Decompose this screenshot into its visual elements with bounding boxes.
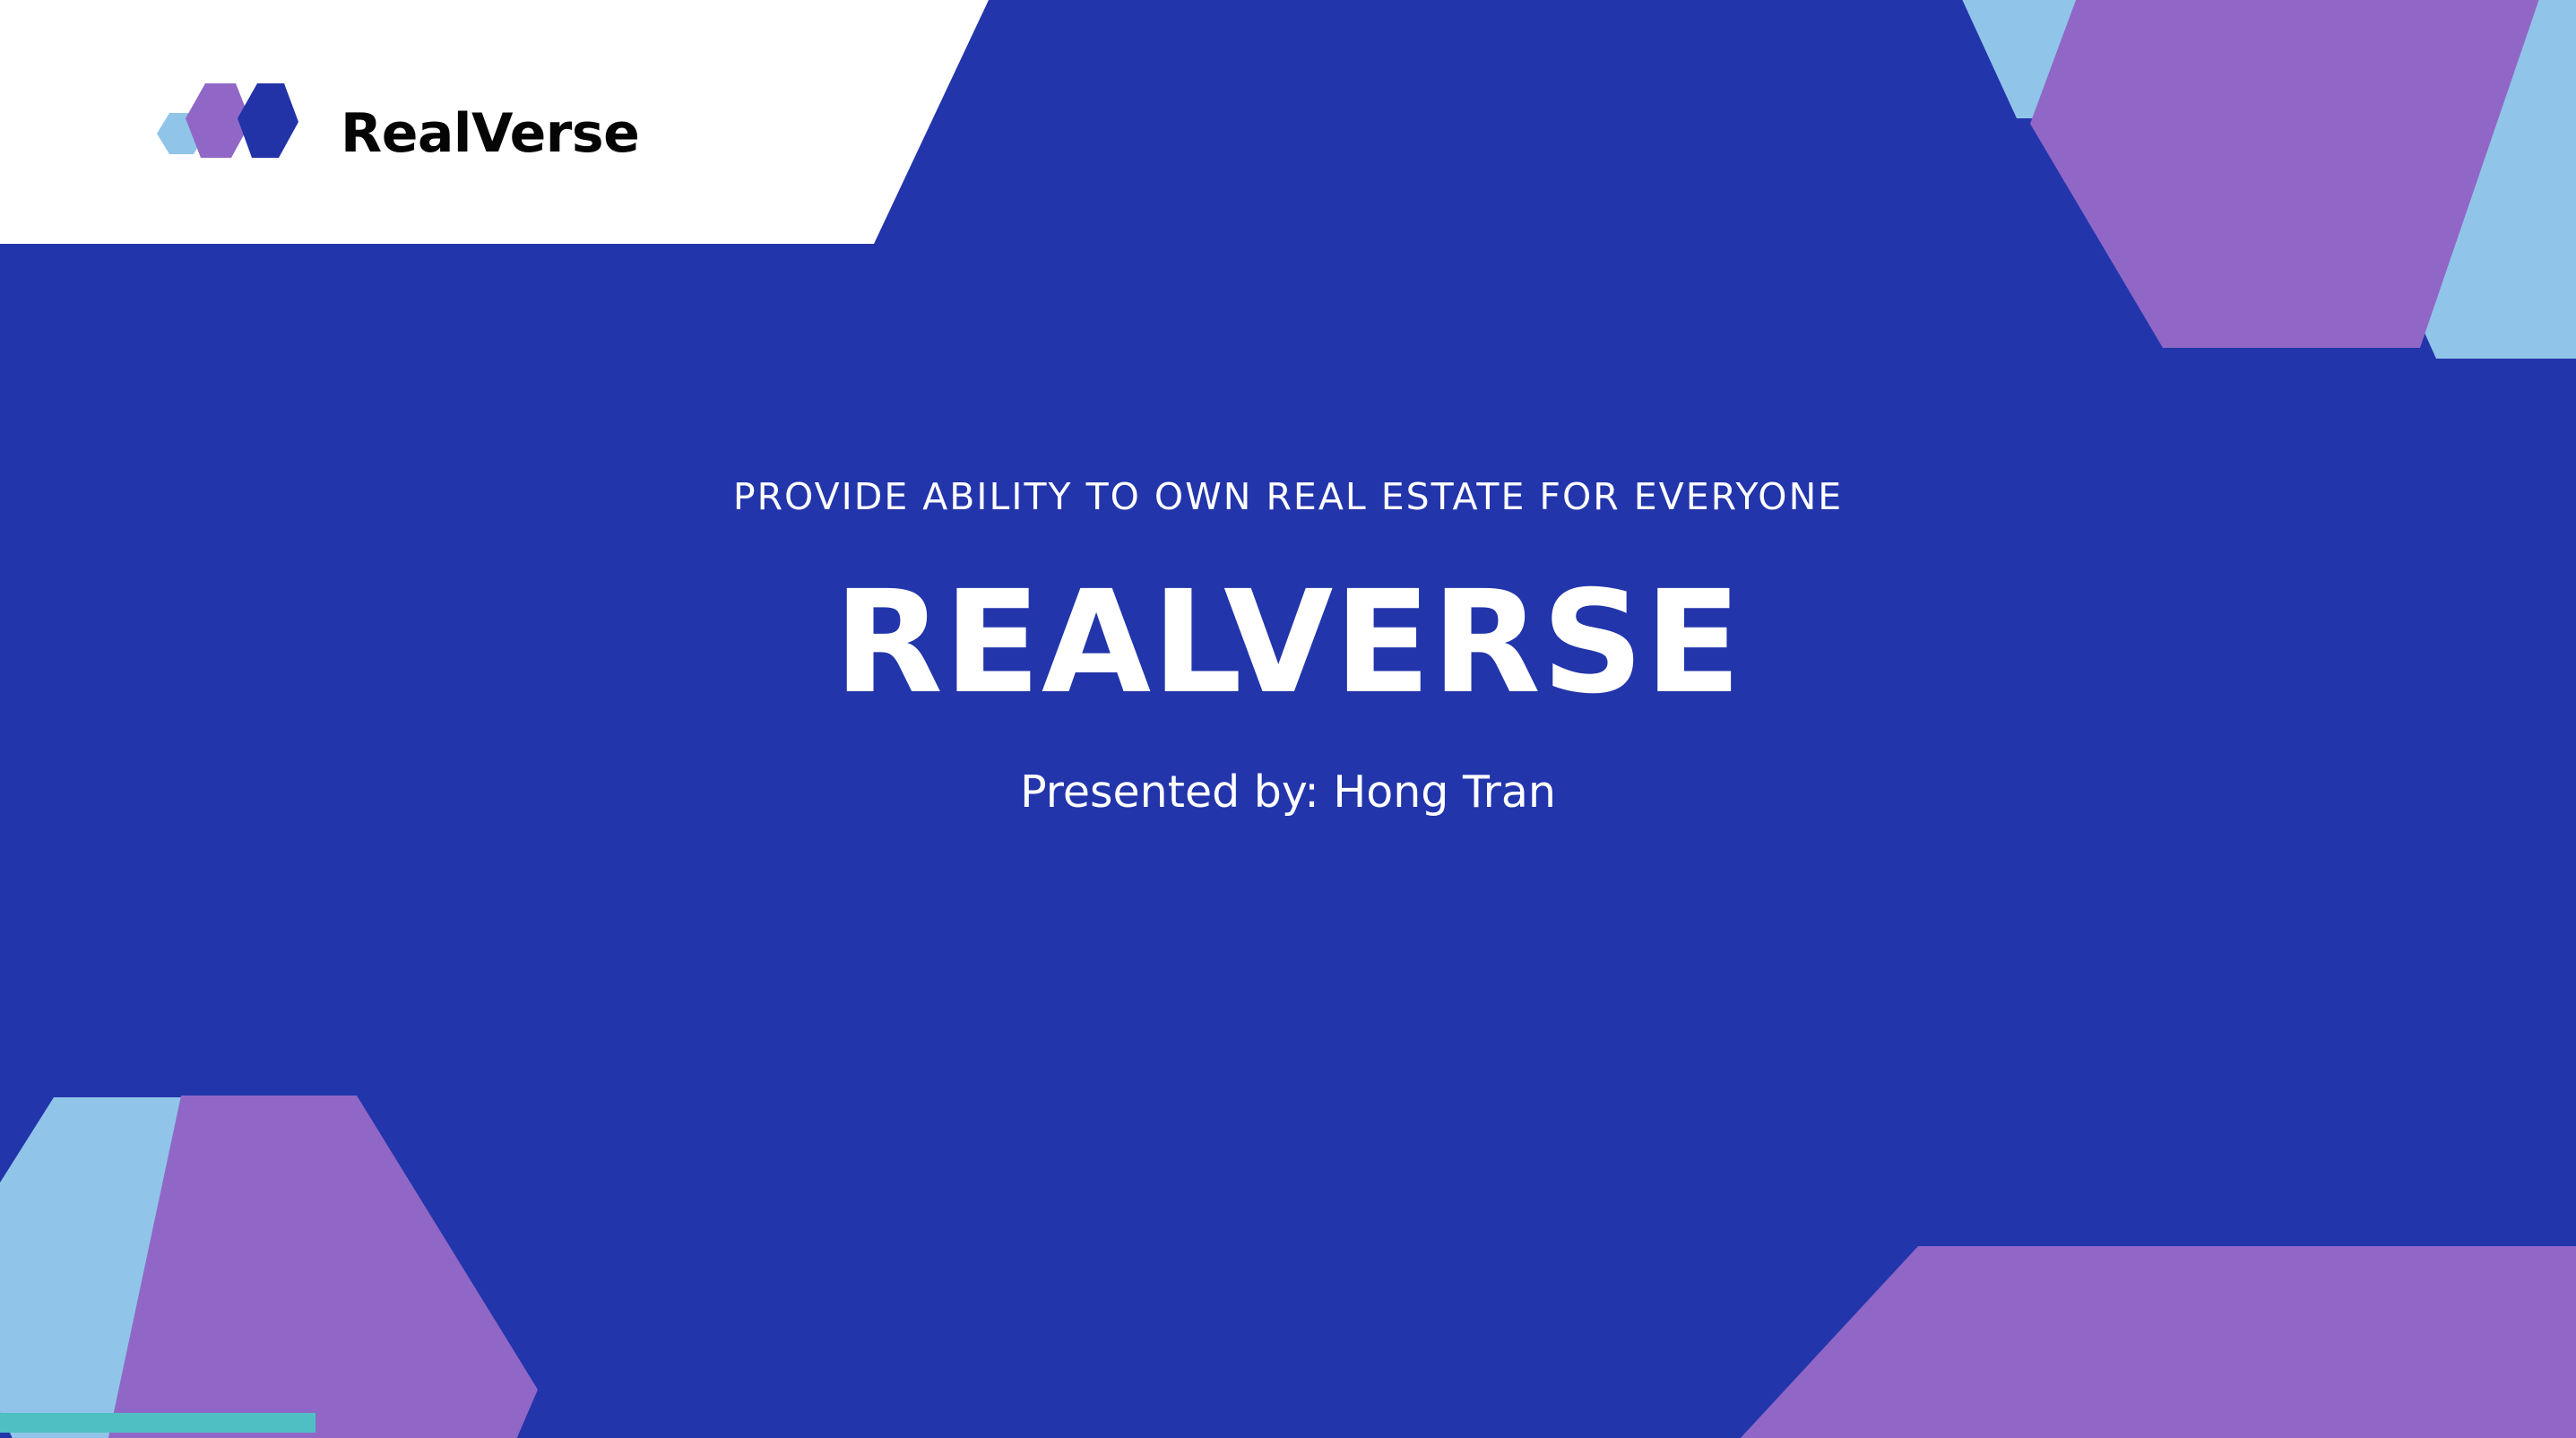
bottom-teal-accent-strip [0,1413,316,1433]
bottom-left-hexagon-cluster [0,1096,695,1438]
purple-hexagon [108,1096,538,1438]
slide-tagline: PROVIDE ABILITY TO OWN REAL ESTATE FOR E… [0,475,2576,518]
top-right-hexagon-cluster [1911,0,2576,359]
slide-title: REALVERSE [0,518,2576,720]
light-blue-hexagon [2321,0,2576,359]
title-slide: RealVerse PROVIDE ABILITY TO OWN REAL ES… [0,0,2576,1438]
purple-hexagon [1694,1246,2576,1438]
bottom-right-purple-hexagon-group [1694,1246,2576,1438]
purple-hexagon [2030,0,2542,348]
brand-logo-lockup[interactable]: RealVerse [136,79,639,188]
tall-dark-blue-hexagon-icon [238,83,298,158]
light-blue-hexagon [0,1097,364,1438]
hero-text-block: PROVIDE ABILITY TO OWN REAL ESTATE FOR E… [0,475,2576,818]
light-blue-hexagon [1911,0,2330,118]
slide-presenter: Presented by: Hong Tran [0,720,2576,818]
brand-wordmark: RealVerse [341,107,639,160]
realverse-hexagon-mark-icon [136,79,299,188]
